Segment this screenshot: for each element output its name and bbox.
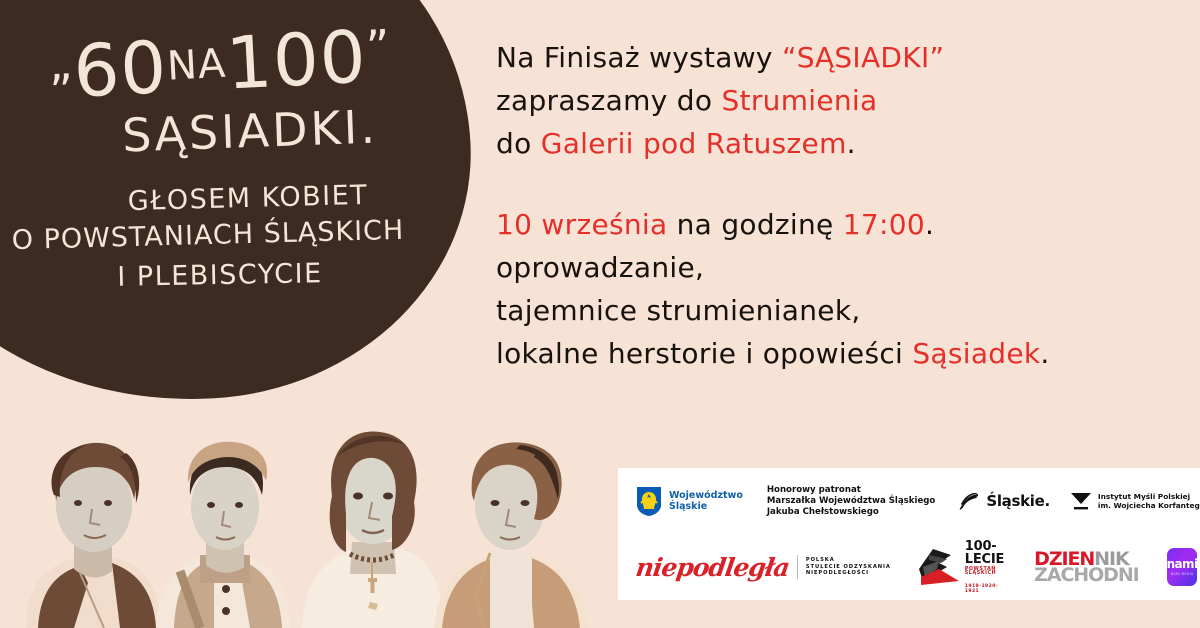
invite-venue: Galerii pod Ratuszem bbox=[541, 127, 847, 160]
illustration-women-group bbox=[0, 413, 620, 628]
nami-label: nami bbox=[1167, 558, 1198, 570]
niepodlegla-sub1: POLSKA bbox=[806, 557, 835, 563]
title-line-5: I PLEBISCYCIE bbox=[55, 259, 385, 292]
lecie-text-block: 100-LECIE POWSTAŃ ŚLĄSKICH 1919-1920-192… bbox=[965, 540, 1004, 595]
wojewodztwo-slaskie-logo: Województwo Śląskie bbox=[636, 486, 743, 517]
patronat-line1: Honorowy patronat bbox=[767, 485, 861, 495]
quote-open: „ bbox=[47, 36, 75, 91]
exhibition-title: „60NA100” SĄSIADKI. GŁOSEM KOBIET O POWS… bbox=[0, 0, 470, 330]
invite-line-1-text: Na Finisaż wystawy bbox=[496, 41, 782, 74]
logo-row-bottom: niepodległa POLSKA STULECIE ODZYSKANIA N… bbox=[618, 534, 1200, 600]
invite-line-7-text: lokalne herstorie i opowieści bbox=[496, 337, 912, 370]
invite-line-4: 10 września na godzinę 17:00. bbox=[496, 203, 1176, 246]
logo-row-top: Województwo Śląskie Honorowy patronat Ma… bbox=[618, 468, 1200, 534]
instytut-line1: Instytut Myśli Polskiej bbox=[1098, 492, 1190, 501]
sponsor-logo-panel: Województwo Śląskie Honorowy patronat Ma… bbox=[618, 468, 1200, 600]
wojewodztwo-line2: Śląskie bbox=[669, 501, 707, 512]
honorary-patronage-text: Honorowy patronat Marszałka Województwa … bbox=[767, 485, 935, 518]
invite-line-2-text: zapraszamy do bbox=[496, 84, 722, 117]
invite-line-7-dot: . bbox=[1040, 337, 1049, 370]
invite-line-2: zapraszamy do Strumienia bbox=[496, 79, 1176, 122]
lecie-years: 1919-1920-1921 bbox=[965, 585, 1004, 594]
patronat-line3: Jakuba Chełstowskiego bbox=[767, 507, 879, 517]
dziennik-line2: ZACHODNI bbox=[1034, 566, 1138, 585]
invite-line-3-text: do bbox=[496, 127, 541, 160]
lecie-title: 100-LECIE bbox=[965, 540, 1004, 566]
slaskie-brand-logo: Śląskie. bbox=[959, 492, 1050, 510]
dziennik-zachodni-logo: DZIENNIK ZACHODNI bbox=[1034, 550, 1138, 585]
invite-line-7: lokalne herstorie i opowieści Sąsiadek. bbox=[496, 332, 1176, 375]
title-line-3: GŁOSEM KOBIET bbox=[78, 181, 419, 217]
slaskie-brand-label: Śląskie. bbox=[986, 492, 1050, 510]
instytut-line2: im. Wojciecha Korfantego bbox=[1098, 501, 1200, 510]
niepodlegla-logo: niepodległa POLSKA STULECIE ODZYSKANIA N… bbox=[636, 553, 891, 582]
imp-arrow-icon bbox=[1070, 491, 1092, 511]
slaskie-stripes-icon bbox=[959, 493, 980, 510]
invite-line-1: Na Finisaż wystawy “SĄSIADKI” bbox=[496, 36, 1176, 79]
invite-line-3: do Galerii pod Ratuszem. bbox=[496, 122, 1176, 165]
title-100: 100 bbox=[224, 14, 369, 105]
woman-illustration-4 bbox=[424, 423, 599, 628]
invite-at: na godzinę bbox=[667, 208, 842, 241]
niepodlegla-subtitle: POLSKA STULECIE ODZYSKANIA NIEPODLEGŁOŚC… bbox=[806, 557, 891, 577]
title-line-1: „60NA100” bbox=[28, 18, 411, 110]
invite-line-4-dot: . bbox=[925, 208, 934, 241]
instytut-mysli-polskiej-logo: Instytut Myśli Polskiej im. Wojciecha Ko… bbox=[1070, 491, 1200, 511]
invite-line-6: tajemnice strumienianek, bbox=[496, 289, 1176, 332]
invite-line-3-dot: . bbox=[847, 127, 856, 160]
niepodlegla-divider bbox=[797, 555, 798, 579]
instytut-label: Instytut Myśli Polskiej im. Wojciecha Ko… bbox=[1098, 492, 1200, 510]
invite-date: 10 września bbox=[496, 208, 667, 241]
invite-exhibition-name: “SĄSIADKI” bbox=[782, 41, 944, 74]
nami-media-logo: nami NAMI MEDIA bbox=[1167, 548, 1198, 586]
eagle-crest-icon bbox=[636, 486, 662, 517]
title-line-4: O POWSTANIACH ŚLĄSKICH bbox=[8, 217, 409, 254]
invite-sasiadek: Sąsiadek bbox=[912, 337, 1040, 370]
invite-time: 17:00 bbox=[843, 208, 925, 241]
powstania-monument-icon bbox=[917, 547, 961, 587]
niepodlegla-script: niepodległa bbox=[634, 553, 791, 582]
invite-city: Strumienia bbox=[722, 84, 878, 117]
wojewodztwo-line1: Województwo bbox=[669, 490, 743, 501]
100-lecie-powstan-logo: 100-LECIE POWSTAŃ ŚLĄSKICH 1919-1920-192… bbox=[917, 540, 1004, 595]
invitation-copy: Na Finisaż wystawy “SĄSIADKI” zapraszamy… bbox=[496, 36, 1176, 375]
invite-line-5: oprowadzanie, bbox=[496, 246, 1176, 289]
poster-canvas: „60NA100” SĄSIADKI. GŁOSEM KOBIET O POWS… bbox=[0, 0, 1200, 628]
woman-illustration-2 bbox=[140, 423, 300, 628]
patronat-line2: Marszałka Województwa Śląskiego bbox=[767, 496, 935, 506]
niepodlegla-sub2: STULECIE ODZYSKANIA bbox=[806, 564, 891, 570]
copy-spacer bbox=[496, 165, 1176, 203]
niepodlegla-sub3: NIEPODLEGŁOŚCI bbox=[806, 570, 869, 576]
wojewodztwo-label: Województwo Śląskie bbox=[669, 490, 743, 513]
lecie-subtitle: POWSTAŃ ŚLĄSKICH bbox=[965, 568, 1004, 578]
nami-sublabel: NAMI MEDIA bbox=[1171, 572, 1194, 576]
title-na: NA bbox=[166, 41, 228, 90]
quote-close: ” bbox=[365, 19, 393, 74]
title-60: 60 bbox=[71, 25, 169, 114]
